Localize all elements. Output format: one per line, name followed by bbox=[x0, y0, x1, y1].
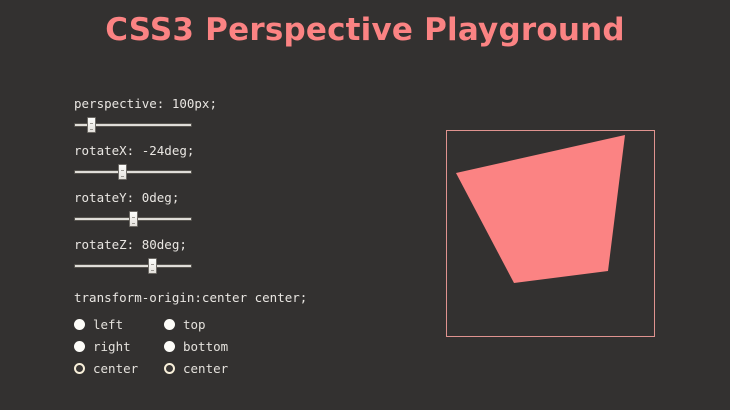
control-row-rotatez: rotateZ: 80deg; bbox=[74, 237, 324, 274]
slider-thumb-rotatez[interactable] bbox=[148, 258, 157, 274]
radio-label-center-vertical: center bbox=[183, 361, 228, 376]
radio-group-vertical: top bottom center bbox=[164, 313, 254, 379]
control-row-rotatex: rotateX: -24deg; bbox=[74, 143, 324, 180]
slider-label-rotatez: rotateZ: 80deg; bbox=[74, 237, 324, 252]
radio-label-right: right bbox=[93, 339, 131, 354]
radio-icon-center-vertical[interactable] bbox=[164, 363, 175, 374]
slider-label-rotatey: rotateY: 0deg; bbox=[74, 190, 324, 205]
radio-option-center-vertical[interactable]: center bbox=[164, 357, 254, 379]
radio-icon-left[interactable] bbox=[74, 319, 85, 330]
transformed-plane-shape bbox=[447, 131, 654, 336]
radio-icon-top[interactable] bbox=[164, 319, 175, 330]
radio-option-left[interactable]: left bbox=[74, 313, 164, 335]
transform-origin-block: transform-origin:center center; left rig… bbox=[74, 290, 324, 379]
slider-label-rotatex: rotateX: -24deg; bbox=[74, 143, 324, 158]
controls-panel: perspective: 100px; rotateX: -24deg; rot… bbox=[74, 96, 324, 379]
radio-label-bottom: bottom bbox=[183, 339, 228, 354]
slider-rotatez[interactable] bbox=[74, 258, 192, 274]
slider-thumb-rotatey[interactable] bbox=[129, 211, 138, 227]
radio-icon-bottom[interactable] bbox=[164, 341, 175, 352]
radio-option-bottom[interactable]: bottom bbox=[164, 335, 254, 357]
transform-origin-label: transform-origin:center center; bbox=[74, 290, 324, 305]
radio-option-right[interactable]: right bbox=[74, 335, 164, 357]
control-row-perspective: perspective: 100px; bbox=[74, 96, 324, 133]
radio-icon-center-horizontal[interactable] bbox=[74, 363, 85, 374]
slider-perspective[interactable] bbox=[74, 117, 192, 133]
radio-group-horizontal: left right center bbox=[74, 313, 164, 379]
radio-columns: left right center top bottom bbox=[74, 313, 324, 379]
slider-thumb-rotatex[interactable] bbox=[118, 164, 127, 180]
radio-label-center-horizontal: center bbox=[93, 361, 138, 376]
page-title: CSS3 Perspective Playground bbox=[0, 12, 730, 48]
slider-rotatey[interactable] bbox=[74, 211, 192, 227]
slider-rotatex[interactable] bbox=[74, 164, 192, 180]
slider-track-rotatex[interactable] bbox=[74, 170, 192, 174]
preview-stage bbox=[446, 130, 655, 337]
slider-thumb-perspective[interactable] bbox=[87, 117, 96, 133]
control-row-rotatey: rotateY: 0deg; bbox=[74, 190, 324, 227]
radio-icon-right[interactable] bbox=[74, 341, 85, 352]
radio-label-top: top bbox=[183, 317, 206, 332]
slider-label-perspective: perspective: 100px; bbox=[74, 96, 324, 111]
radio-option-top[interactable]: top bbox=[164, 313, 254, 335]
radio-label-left: left bbox=[93, 317, 123, 332]
slider-track-rotatez[interactable] bbox=[74, 264, 192, 268]
radio-option-center-horizontal[interactable]: center bbox=[74, 357, 164, 379]
